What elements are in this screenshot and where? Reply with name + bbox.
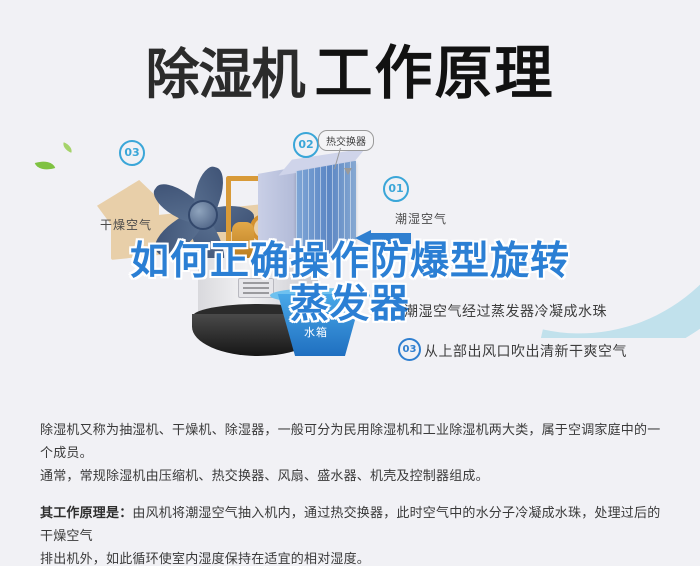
heat-exchanger-callout: 热交换器 [318,130,374,151]
page-title: 除湿机工作原理 [0,26,700,110]
badge-01: 01 [383,176,409,202]
leaf-icon [61,142,74,153]
page-title-part2: 工作原理 [314,41,554,106]
page-title-part1: 除湿机 [145,45,304,105]
infographic-page: 除湿机工作原理 干燥空气 03 [0,0,700,566]
note-badge-03: 03 [398,338,421,361]
heat-exchanger-block [296,161,356,264]
callout-tip-icon [344,168,352,175]
water-tank-label: 水箱 [304,324,328,340]
badge-02: 02 [293,132,319,158]
badge-03: 03 [119,140,145,166]
control-panel [238,278,274,298]
humid-air-intake-arrow [355,230,411,246]
note-condensation: 潮湿空气经过蒸发器冷凝成水珠 [404,301,607,321]
paragraph-1-line-2: 通常，常规除湿机由压缩机、热交换器、风扇、盛水器、机壳及控制器组成。 [40,465,662,488]
paragraph-2-text-1: 由风机将潮湿空气抽入机内，通过热交换器，此时空气中的水分子冷凝成水珠，处理过后的… [40,506,660,544]
paragraph-2-label: 其工作原理是： [40,506,132,521]
paragraph-2-line-1: 其工作原理是：由风机将潮湿空气抽入机内，通过热交换器，此时空气中的水分子冷凝成水… [40,502,662,548]
note-outlet: 从上部出风口吹出清新干爽空气 [424,341,627,361]
humid-air-label: 潮湿空气 [395,210,447,227]
dry-air-label: 干燥空气 [100,216,152,233]
paragraph-1-line-1: 除湿机又称为抽湿机、干燥机、除湿器，一般可分为民用除湿机和工业除湿机两大类，属于… [40,419,662,465]
paragraph-2-line-2: 排出机外，如此循环使室内湿度保持在适宜的相对湿度。 [40,548,662,566]
leaf-icon [35,157,56,173]
paragraph-spacer [40,488,662,502]
body-copy: 除湿机又称为抽湿机、干燥机、除湿器，一般可分为民用除湿机和工业除湿机两大类，属于… [40,419,662,566]
